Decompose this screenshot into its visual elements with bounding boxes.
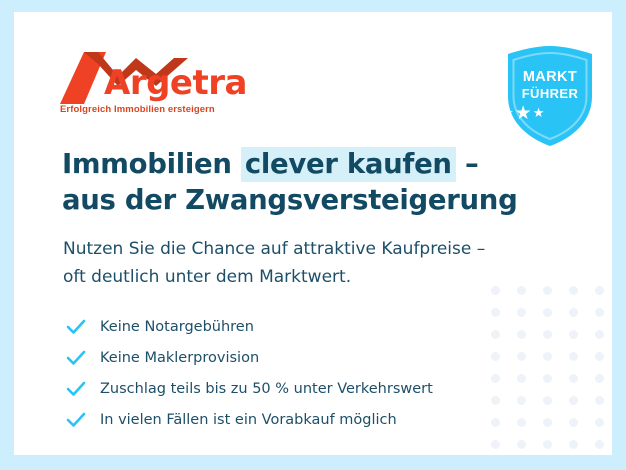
headline-highlight: clever kaufen: [241, 147, 456, 182]
dot: [543, 418, 552, 427]
dot: [595, 308, 604, 317]
check-icon: [66, 412, 90, 428]
dot: [569, 330, 578, 339]
subheadline-line-1: Nutzen Sie die Chance auf attraktive Kau…: [63, 239, 485, 259]
dot: [569, 440, 578, 449]
headline-line-1-before: Immobilien: [62, 148, 241, 180]
bullet-label: Zuschlag teils bis zu 50 % unter Verkehr…: [90, 381, 433, 397]
list-item: Keine Notargebühren: [66, 311, 536, 342]
dot: [517, 440, 526, 449]
banner-card: Argetra Erfolgreich Immobilien ersteiger…: [14, 12, 612, 455]
promo-banner: Argetra Erfolgreich Immobilien ersteiger…: [0, 0, 626, 470]
shield-badge-icon: [502, 44, 598, 148]
logo-wordmark: Argetra: [104, 66, 247, 100]
dot: [569, 396, 578, 405]
headline-line-1-after: –: [456, 148, 479, 180]
dot: [543, 440, 552, 449]
dot: [543, 396, 552, 405]
list-item: In vielen Fällen ist ein Vorabkauf mögli…: [66, 404, 536, 435]
dot: [595, 440, 604, 449]
dot: [595, 330, 604, 339]
list-item: Keine Maklerprovision: [66, 342, 536, 373]
subheadline-line-2: oft deutlich unter dem Marktwert.: [63, 267, 351, 287]
dot: [543, 374, 552, 383]
subheadline: Nutzen Sie die Chance auf attraktive Kau…: [63, 236, 583, 291]
benefits-list: Keine Notargebühren Keine Maklerprovisio…: [66, 311, 536, 435]
check-icon: [66, 381, 90, 397]
bullet-label: In vielen Fällen ist ein Vorabkauf mögli…: [90, 412, 397, 428]
check-icon: [66, 319, 90, 335]
argetra-logo: Argetra Erfolgreich Immobilien ersteiger…: [58, 52, 248, 122]
dot: [543, 352, 552, 361]
dot: [569, 374, 578, 383]
bullet-label: Keine Maklerprovision: [90, 350, 259, 366]
dot: [569, 418, 578, 427]
dot: [569, 352, 578, 361]
dot: [595, 286, 604, 295]
headline-line-2: aus der Zwangsversteigerung: [62, 184, 517, 216]
market-leader-badge: MARKT FÜHRER ★★★: [502, 44, 598, 148]
dot: [595, 396, 604, 405]
dot: [595, 352, 604, 361]
dot: [543, 308, 552, 317]
badge-stars: ★★★: [502, 104, 598, 123]
dot: [491, 440, 500, 449]
star-icon: ★: [515, 103, 533, 124]
list-item: Zuschlag teils bis zu 50 % unter Verkehr…: [66, 373, 536, 404]
dot: [569, 308, 578, 317]
star-icon: ★: [502, 105, 515, 120]
check-icon: [66, 350, 90, 366]
dot: [595, 418, 604, 427]
headline: Immobilien clever kaufen – aus der Zwang…: [62, 146, 582, 219]
logo-tagline: Erfolgreich Immobilien ersteigern: [60, 104, 215, 115]
dot: [543, 330, 552, 339]
bullet-label: Keine Notargebühren: [90, 319, 254, 335]
dot: [595, 374, 604, 383]
star-icon: ★: [533, 105, 546, 120]
